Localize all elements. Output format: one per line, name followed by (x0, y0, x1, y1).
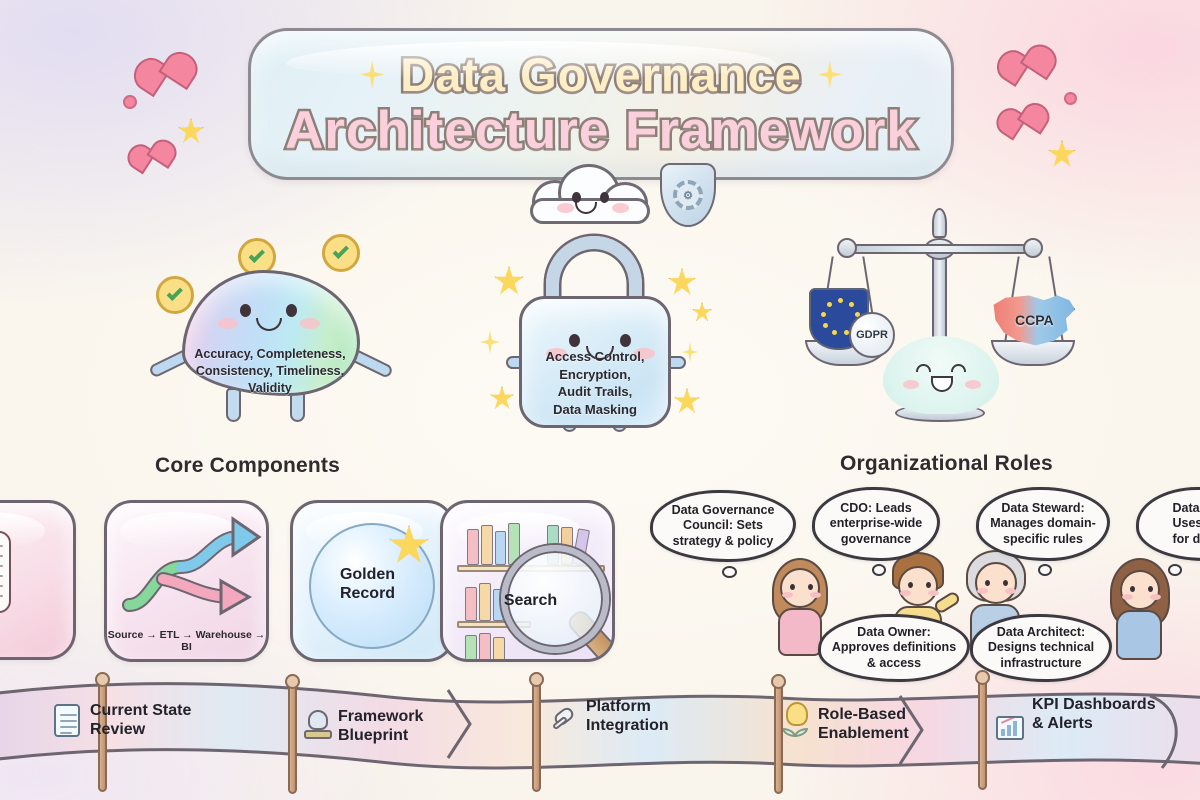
eye (790, 584, 795, 590)
clip-line (60, 726, 77, 728)
bubble-tail-dot (872, 564, 886, 576)
chart-bar (1001, 729, 1005, 736)
phase-line-1: Role-Based (818, 706, 909, 725)
cloud-mascot (524, 162, 656, 224)
open-book-icon (0, 531, 11, 613)
gr-line-2: Record (290, 584, 450, 603)
eye (908, 582, 913, 588)
clipboard-icon (54, 704, 80, 737)
star-decoration (494, 266, 524, 296)
role-line-2: Council: Sets (672, 518, 775, 533)
mascot-eye (951, 364, 966, 372)
title-banner: Data Governance Architecture Framework (248, 28, 954, 180)
head (780, 568, 820, 608)
gr-line-1: Golden (290, 565, 450, 584)
role-line-1: CDO: Leads (830, 501, 922, 516)
clip-line (60, 720, 77, 722)
golden-record-label: Golden Record (290, 565, 450, 603)
heart-decoration (138, 146, 168, 175)
cloud-eye (600, 192, 609, 203)
role-line-1: Data Architect: (988, 625, 1094, 640)
cloud-blush (612, 203, 629, 213)
dq-line-3: Validity (150, 380, 390, 397)
phase-line-2: Blueprint (338, 727, 423, 746)
lock-eye (620, 334, 631, 347)
lock-eye (569, 334, 580, 347)
book-spine (465, 635, 477, 662)
chart-icon (996, 716, 1024, 740)
eu-star (823, 323, 828, 328)
bubble-data-architect[interactable]: Data Architect: Designs technical infras… (970, 614, 1112, 682)
scale-beam-tip-left (837, 238, 857, 258)
ribbon-pole-knob (771, 674, 786, 689)
role-line-3: strategy & policy (672, 534, 775, 549)
mascot-eye (916, 364, 931, 372)
eye (926, 582, 931, 588)
bubble-tail-dot (722, 566, 737, 578)
torso (1116, 610, 1162, 660)
role-line-1: Data Steward: (990, 501, 1096, 516)
role-line-3: governance (830, 532, 922, 547)
stamp-icon (308, 710, 328, 730)
torso (778, 608, 822, 656)
bubble-data-consumer[interactable]: Data Con Uses trus for dec (1136, 487, 1200, 561)
chart-bar (1013, 721, 1017, 736)
book-spine (467, 529, 479, 565)
phase-line-2: Integration (586, 717, 669, 736)
eye (1003, 580, 1008, 586)
dq-line-1: Accuracy, Completeness, (150, 346, 390, 363)
eu-star (827, 302, 832, 307)
bubble-data-owner[interactable]: Data Owner: Approves definitions & acces… (818, 614, 970, 682)
phase-label-platform-integration: Platform Integration (586, 698, 669, 736)
ds-line-4: Data Masking (470, 401, 720, 419)
role-line-1: Data Owner: (832, 625, 956, 640)
role-line-2: Uses trus (1173, 516, 1200, 531)
organizational-roles-heading: Organizational Roles (840, 452, 1053, 476)
curved-arrows-icon (107, 509, 269, 629)
head (1120, 570, 1160, 610)
dc-line-1: Search (443, 591, 615, 610)
blush (928, 590, 939, 596)
blush (900, 590, 911, 596)
book-line (0, 595, 3, 597)
bubble-data-governance-council[interactable]: Data Governance Council: Sets strategy &… (650, 490, 796, 562)
clip-line (60, 714, 77, 716)
role-line-2: Approves definitions (832, 640, 956, 655)
ribbon-pole-knob (285, 674, 300, 689)
book-line (0, 575, 3, 577)
ribbon-pole-knob (95, 672, 110, 687)
phase-line-2: & Alerts (1032, 715, 1156, 734)
blob-eye (286, 304, 297, 317)
eye (1130, 586, 1135, 592)
book-line (0, 555, 3, 557)
dot-decoration (123, 95, 137, 109)
card-data-lineage[interactable]: Source → ETL → Warehouse → BI (104, 500, 269, 662)
security-shield-icon: ⚙ (660, 163, 716, 227)
book-line (0, 545, 3, 547)
phase-line-1: Framework (338, 708, 423, 727)
book-spine (495, 531, 506, 565)
book-spine (479, 633, 491, 662)
ribbon-pole (978, 678, 987, 790)
ribbon-pole (774, 682, 783, 794)
book-spine (493, 637, 505, 662)
blush (810, 592, 821, 598)
stamp-base (304, 730, 332, 739)
title-line-1: Data Governance (400, 51, 802, 98)
ribbon-pole-knob (975, 670, 990, 685)
heart-decoration (147, 60, 187, 97)
card-golden-record[interactable]: Golden Record (290, 500, 455, 662)
cloud-blush (557, 203, 574, 213)
eye (1148, 586, 1153, 592)
data-lineage-caption: Source → ETL → Warehouse → BI (107, 629, 266, 653)
scale-beam-tip-right (1023, 238, 1043, 258)
star-decoration (178, 118, 204, 144)
ccpa-badge: CCPA (1015, 312, 1054, 328)
phase-line-2: Review (90, 721, 191, 740)
scale-beam (845, 244, 1035, 254)
role-line-3: for dec (1173, 532, 1200, 547)
star-decoration (1048, 140, 1076, 168)
poster-canvas: Data Governance Architecture Framework ⚙ (0, 0, 1200, 800)
dot-decoration (1064, 92, 1077, 105)
data-catalog-label: Search (443, 591, 615, 610)
role-line-2: Designs technical (988, 640, 1094, 655)
blob-eye (240, 304, 251, 317)
eye (985, 580, 990, 586)
blush (1005, 588, 1016, 594)
mascot-mouth (931, 376, 953, 392)
gear-icon: ⚙ (673, 180, 703, 210)
phase-line-1: Platform (586, 698, 669, 717)
phase-line-2: Enablement (818, 725, 909, 744)
heart-decoration (1009, 52, 1046, 87)
roadmap-ribbon: Current State Review Framework Blueprint… (0, 672, 1200, 800)
eu-star (838, 298, 843, 303)
chart-bar (1007, 725, 1011, 736)
plug-icon (550, 704, 580, 736)
bubble-data-steward[interactable]: Data Steward: Manages domain- specific r… (976, 487, 1110, 561)
mascot-blush (965, 380, 981, 389)
phase-line-1: KPI Dashboards (1032, 696, 1156, 715)
ds-line-2: Encryption, (470, 366, 720, 384)
book-line (0, 585, 3, 587)
role-line-2: Manages domain- (990, 516, 1096, 531)
lightbulb-icon (786, 702, 808, 726)
phase-label-kpi-dashboards: KPI Dashboards & Alerts (1032, 696, 1156, 734)
blob-blush (218, 318, 238, 329)
dq-line-2: Consistency, Timeliness, (150, 363, 390, 380)
mascot-blush (903, 380, 919, 389)
eu-star (832, 330, 837, 335)
head (975, 562, 1017, 604)
head (898, 566, 938, 606)
role-line-1: Data Con (1173, 501, 1200, 516)
data-quality-text: Accuracy, Completeness, Consistency, Tim… (150, 346, 390, 397)
blush (977, 588, 988, 594)
book-spine (481, 525, 493, 565)
star-decoration (692, 302, 712, 322)
ribbon-pole (532, 680, 541, 792)
title-row-1: Data Governance (360, 51, 842, 98)
leaf-icon (782, 728, 808, 742)
blush (1150, 594, 1161, 600)
data-security-text: Access Control, Encryption, Audit Trails… (470, 348, 720, 418)
role-line-2: enterprise-wide (830, 516, 922, 531)
title-line-2: Architecture Framework (285, 104, 917, 157)
card-business-glossary[interactable]: Business Glossary (0, 500, 76, 660)
role-line-3: specific rules (990, 532, 1096, 547)
phase-line-1: Current State (90, 702, 191, 721)
role-line-3: & access (832, 656, 956, 671)
pillar-compliance: GDPR CCPA (795, 200, 1085, 445)
eye (808, 584, 813, 590)
compliance-mascot (883, 336, 999, 414)
ribbon-pole-knob (529, 672, 544, 687)
sparkle-icon (818, 61, 842, 89)
chart-trendline (1001, 716, 1020, 724)
role-line-3: infrastructure (988, 656, 1094, 671)
eu-star (821, 312, 826, 317)
leaf (794, 728, 808, 737)
ribbon-pole (288, 682, 297, 794)
blush (782, 592, 793, 598)
ds-line-3: Audit Trails, (470, 383, 720, 401)
bubble-tail-dot (1038, 564, 1052, 576)
check-badge-icon (322, 234, 360, 272)
star-decoration (668, 268, 696, 296)
core-components-heading: Core Components (155, 454, 340, 478)
bubble-tail-dot (1168, 564, 1182, 576)
clip-line (60, 732, 72, 734)
pillar-data-quality: Accuracy, Completeness, Consistency, Tim… (150, 236, 390, 426)
sparkle-icon (360, 61, 384, 89)
phase-label-framework-blueprint: Framework Blueprint (338, 708, 423, 746)
scale-finial (932, 208, 947, 238)
gdpr-badge: GDPR (849, 312, 895, 358)
phase-label-current-state-review: Current State Review (90, 702, 191, 740)
eu-star (849, 302, 854, 307)
heart-decoration (1008, 109, 1041, 140)
pillar-data-security: Access Control, Encryption, Audit Trails… (470, 230, 720, 430)
role-line-1: Data Governance (672, 503, 775, 518)
blob-blush (300, 318, 320, 329)
bubble-cdo[interactable]: CDO: Leads enterprise-wide governance (812, 487, 940, 561)
ds-line-1: Access Control, (470, 348, 720, 366)
card-data-catalog[interactable]: Search (440, 500, 615, 662)
blush (1122, 594, 1133, 600)
book-line (0, 565, 3, 567)
phase-label-role-based-enablement: Role-Based Enablement (818, 706, 909, 744)
